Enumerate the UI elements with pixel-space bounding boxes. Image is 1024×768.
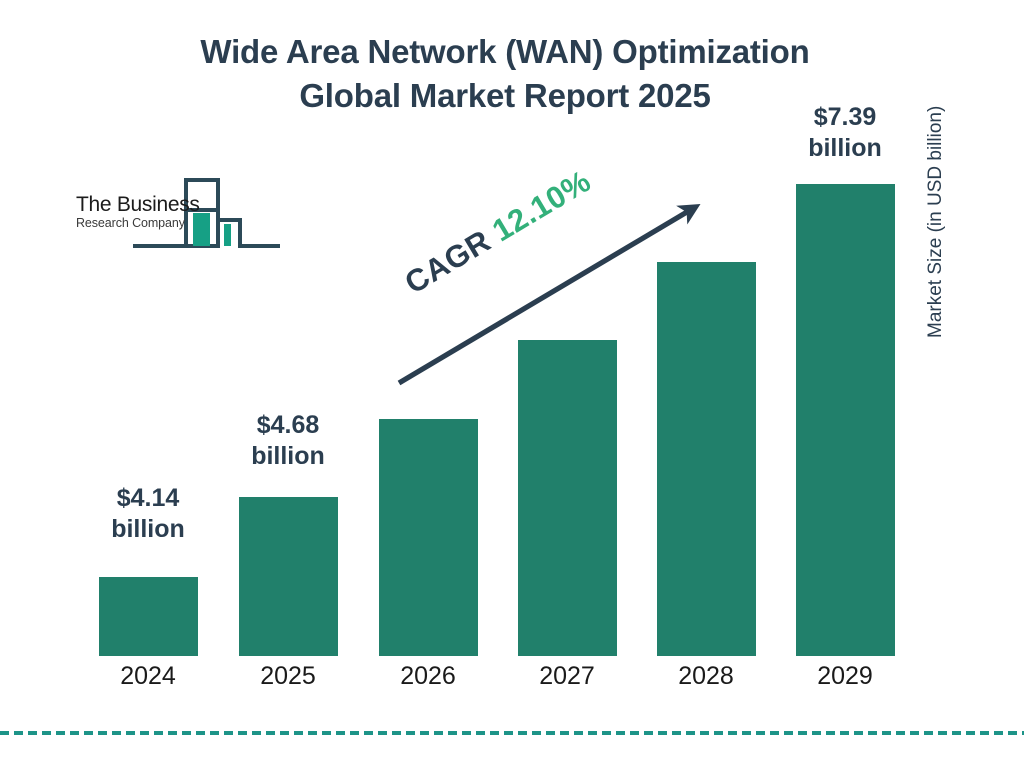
x-tick-2026: 2026 xyxy=(363,662,493,691)
footer-divider xyxy=(0,731,1024,735)
cagr-value: 12.10% xyxy=(486,163,596,248)
bar-value-2024-unit: billion xyxy=(83,514,213,545)
bar-value-2024-amount: $4.14 xyxy=(117,484,180,512)
bar-2025 xyxy=(239,497,338,656)
bar-2027 xyxy=(518,340,617,656)
bar-2028 xyxy=(657,262,756,656)
bar-2029 xyxy=(796,184,895,656)
cagr-annotation: CAGR 12.10% xyxy=(399,163,597,301)
bar-value-2029-unit: billion xyxy=(780,133,910,164)
chart-canvas: Wide Area Network (WAN) Optimization Glo… xyxy=(0,0,1024,768)
bar-value-2025-unit: billion xyxy=(223,441,353,472)
bar-value-label-2025: $4.68 billion xyxy=(223,410,353,471)
cagr-word: CAGR xyxy=(399,223,497,301)
x-tick-2029: 2029 xyxy=(780,662,910,691)
bar-chart-plot-area: $4.14 billion $4.68 billion $7.39 billio… xyxy=(0,0,1024,768)
y-axis-title: Market Size (in USD billion) xyxy=(925,106,947,338)
x-tick-2028: 2028 xyxy=(641,662,771,691)
bar-2024 xyxy=(99,577,198,656)
x-tick-2025: 2025 xyxy=(223,662,353,691)
bar-value-2025-amount: $4.68 xyxy=(257,411,320,439)
bar-2026 xyxy=(379,419,478,656)
bar-value-label-2029: $7.39 billion xyxy=(780,102,910,163)
x-tick-2027: 2027 xyxy=(502,662,632,691)
bar-value-2029-amount: $7.39 xyxy=(814,103,877,131)
x-tick-2024: 2024 xyxy=(83,662,213,691)
bar-value-label-2024: $4.14 billion xyxy=(83,483,213,544)
